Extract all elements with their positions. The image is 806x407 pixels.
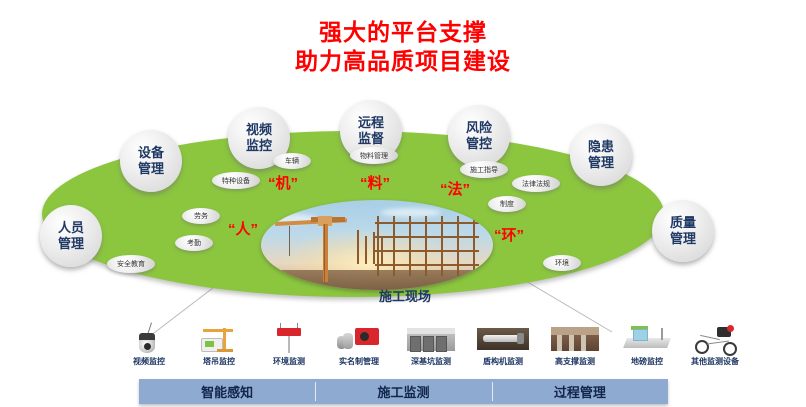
device-label: 塔吊监控	[180, 356, 258, 367]
circle-personnel-management[interactable]: 人员 管理	[40, 205, 102, 267]
pill-labor-service[interactable]: 劳务	[182, 208, 220, 224]
other-devices-icon	[683, 320, 747, 354]
pill-special-equipment[interactable]: 特种设备	[212, 172, 260, 189]
pill-attendance[interactable]: 考勤	[175, 235, 213, 251]
circle-personnel-line1: 人员	[58, 220, 84, 236]
device-video-monitoring[interactable]: 视频监控	[110, 320, 188, 367]
device-high-support-monitoring[interactable]: 高支撑监测	[536, 320, 614, 367]
device-label: 视频监控	[110, 356, 188, 367]
tower-crane-icon	[187, 320, 251, 354]
circle-video-line2: 监控	[246, 138, 272, 154]
circle-personnel-line2: 管理	[58, 236, 84, 252]
circle-risk-line1: 风险	[466, 120, 492, 136]
crane-mast	[323, 224, 328, 282]
face-gate-icon	[327, 320, 391, 354]
device-label: 深基坑监测	[392, 356, 470, 367]
circle-equipment-line2: 管理	[138, 161, 164, 177]
circle-remote-line1: 远程	[358, 115, 384, 131]
pill-vehicle[interactable]: 车辆	[273, 153, 311, 169]
construction-site-photo	[261, 200, 493, 290]
device-label: 地磅监控	[608, 356, 686, 367]
bottom-bar-construction-monitoring[interactable]: 施工监测	[315, 379, 491, 404]
keyword-fa: “法”	[440, 178, 470, 199]
pill-laws-regulations[interactable]: 法律法规	[512, 175, 560, 192]
keyword-ji: “机”	[268, 172, 298, 193]
infographic-canvas: 强大的平台支撑 助力高品质项目建设	[0, 0, 806, 407]
title-line-2: 助力高品质项目建设	[0, 47, 806, 76]
high-support-icon	[543, 320, 607, 354]
device-tower-crane[interactable]: 塔吊监控	[180, 320, 258, 367]
pill-environment[interactable]: 环境	[543, 255, 581, 271]
title-line-1: 强大的平台支撑	[0, 18, 806, 47]
device-environment-monitoring[interactable]: 环境监测	[250, 320, 328, 367]
device-weighbridge[interactable]: 地磅监控	[608, 320, 686, 367]
device-shield-machine[interactable]: 盾构机监测	[464, 320, 542, 367]
keyword-liao: “料”	[360, 172, 390, 193]
bottom-category-bar: 智能感知 施工监测 过程管理	[139, 379, 668, 404]
circle-equipment-management[interactable]: 设备 管理	[120, 130, 182, 192]
device-deep-pit-monitoring[interactable]: 深基坑监测	[392, 320, 470, 367]
pill-rules-system[interactable]: 制度	[488, 196, 526, 212]
circle-quality-management[interactable]: 质量 管理	[652, 200, 714, 262]
bottom-bar-smart-sensing[interactable]: 智能感知	[139, 379, 315, 404]
circle-quality-line2: 管理	[670, 231, 696, 247]
shield-machine-icon	[471, 320, 535, 354]
circle-video-line1: 视频	[246, 122, 272, 138]
dome-camera-icon	[117, 320, 181, 354]
weighbridge-icon	[615, 320, 679, 354]
circle-remote-line2: 监督	[358, 131, 384, 147]
site-caption: 施工现场	[340, 286, 470, 305]
pill-safety-education[interactable]: 安全教育	[107, 255, 155, 273]
device-other-monitoring-devices[interactable]: 其他监测设备	[676, 320, 754, 367]
crane-hoist-line	[289, 226, 290, 256]
env-sensor-icon	[257, 320, 321, 354]
device-label: 盾构机监测	[464, 356, 542, 367]
circle-hazard-line2: 管理	[588, 155, 614, 171]
scaffolding-structure	[375, 216, 485, 278]
keyword-ren: “人”	[228, 218, 258, 239]
circle-risk-control[interactable]: 风险 管控	[448, 105, 510, 167]
page-title: 强大的平台支撑 助力高品质项目建设	[0, 18, 806, 76]
device-label: 实名制管理	[320, 356, 398, 367]
circle-risk-line2: 管控	[466, 136, 492, 152]
device-label: 高支撑监测	[536, 356, 614, 367]
pill-material-management[interactable]: 物料管理	[350, 147, 398, 164]
device-real-name-management[interactable]: 实名制管理	[320, 320, 398, 367]
pill-construction-guide[interactable]: 施工指导	[460, 161, 508, 178]
bottom-bar-process-management[interactable]: 过程管理	[492, 379, 668, 404]
circle-quality-line1: 质量	[670, 215, 696, 231]
keyword-huan: “环”	[494, 224, 524, 245]
device-label: 环境监测	[250, 356, 328, 367]
circle-hazard-management[interactable]: 隐患 管理	[570, 124, 632, 186]
deep-pit-icon	[399, 320, 463, 354]
circle-equipment-line1: 设备	[138, 145, 164, 161]
circle-hazard-line1: 隐患	[588, 139, 614, 155]
device-label: 其他监测设备	[676, 356, 754, 367]
